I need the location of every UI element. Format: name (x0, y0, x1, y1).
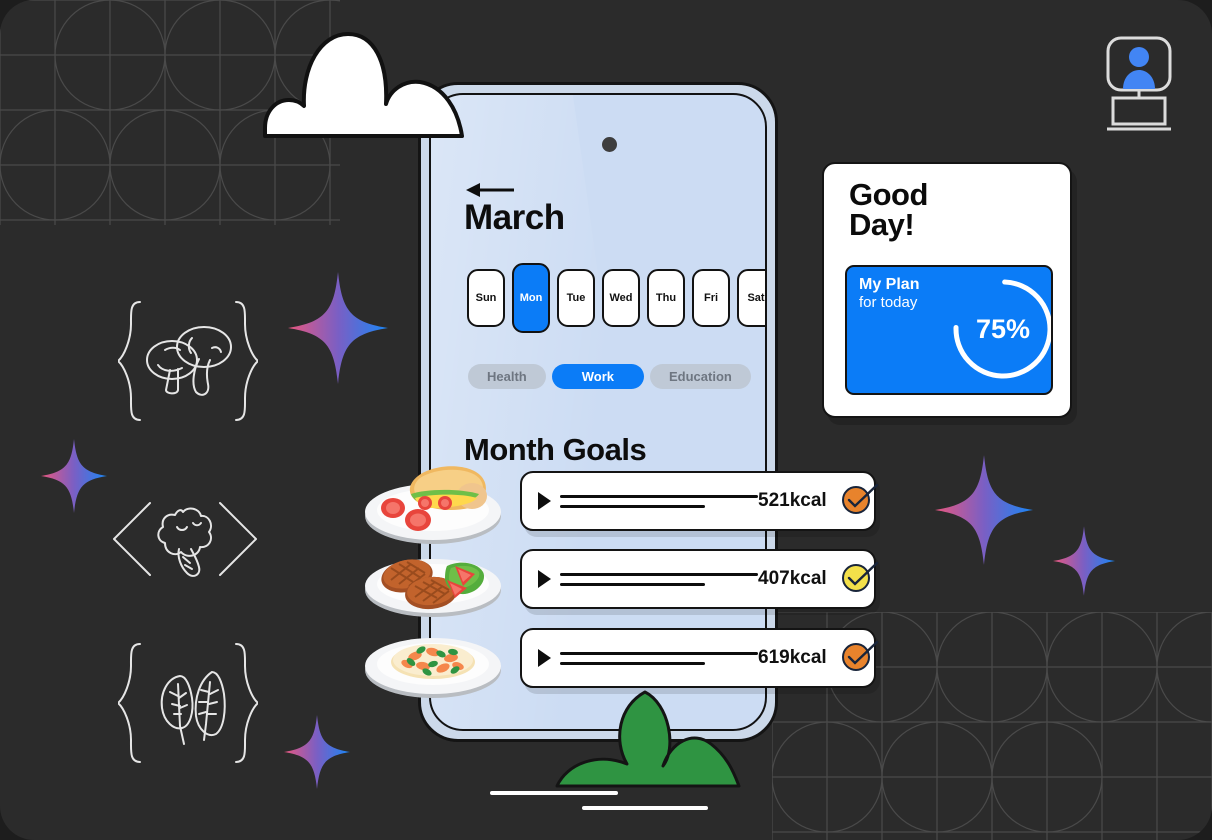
my-plan-label: My Plan for today (859, 276, 919, 312)
weekday-selector[interactable]: Sun Mon Tue Wed Thu Fri Sat (467, 269, 767, 333)
spinach-glyph (118, 638, 258, 773)
my-plan-panel[interactable]: My Plan for today 75% (845, 265, 1053, 395)
expand-caret-icon[interactable] (538, 649, 551, 667)
goal-check-badge-yellow[interactable] (841, 562, 879, 597)
good-day-card: Good Day! My Plan for today 75% (822, 162, 1072, 418)
good-day-title-line2: Day! (849, 207, 914, 242)
goal-check-badge-orange[interactable] (841, 484, 879, 519)
goal-placeholder-lines (560, 495, 758, 508)
expand-caret-icon[interactable] (538, 492, 551, 510)
mushroom-glyph (118, 296, 258, 431)
tab-education[interactable]: Education (650, 364, 751, 389)
my-plan-subtitle: for today (859, 294, 919, 311)
goal-calories: 619kcal (758, 647, 827, 669)
day-chip-tue[interactable]: Tue (557, 269, 595, 327)
steak-plate (363, 538, 503, 629)
tab-health[interactable]: Health (468, 364, 546, 389)
day-chip-mon[interactable]: Mon (512, 263, 550, 333)
tab-work[interactable]: Work (552, 364, 644, 389)
day-chip-sun[interactable]: Sun (467, 269, 505, 327)
expand-caret-icon[interactable] (538, 570, 551, 588)
sparkle-icon (41, 438, 107, 519)
goal-check-badge-orange[interactable] (841, 641, 879, 676)
home-indicator-line (490, 791, 618, 795)
sparkle-icon (284, 714, 350, 795)
poster-canvas: March Sun Mon Tue Wed Thu Fri Sat Health… (0, 0, 1212, 840)
sparkle-icon (1053, 525, 1115, 602)
sparkle-icon (288, 272, 388, 389)
broccoli-glyph (110, 487, 260, 596)
goal-calories: 407kcal (758, 568, 827, 590)
monitor-person-icon[interactable] (1103, 36, 1175, 137)
pasta-plate (363, 618, 503, 709)
home-indicator-line (582, 806, 708, 810)
day-chip-wed[interactable]: Wed (602, 269, 640, 327)
category-tabs[interactable]: Health Work Education (468, 364, 751, 389)
day-chip-thu[interactable]: Thu (647, 269, 685, 327)
day-chip-sat[interactable]: Sat (737, 269, 767, 327)
cloud-shape (262, 28, 490, 145)
good-day-title: Good Day! (849, 180, 928, 241)
progress-percent: 75% (948, 274, 1053, 384)
goal-placeholder-lines (560, 652, 758, 665)
my-plan-title: My Plan (859, 276, 919, 293)
goal-row[interactable]: 521kcal (520, 471, 876, 531)
sparkle-icon (935, 455, 1033, 570)
camera-dot-icon (602, 137, 617, 152)
day-chip-fri[interactable]: Fri (692, 269, 730, 327)
goal-calories: 521kcal (758, 490, 827, 512)
page-title: March (464, 198, 565, 238)
goal-row[interactable]: 619kcal (520, 628, 876, 688)
goal-row[interactable]: 407kcal (520, 549, 876, 609)
bush-shape (553, 690, 745, 793)
goal-placeholder-lines (560, 573, 758, 586)
